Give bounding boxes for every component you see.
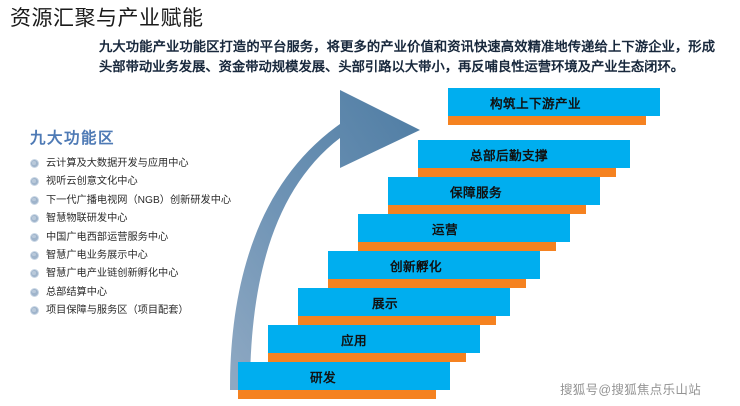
watermark: 搜狐号@搜狐焦点乐山站 [560, 379, 701, 398]
step-riser [418, 168, 616, 177]
stair-step[interactable]: 展示 [298, 288, 510, 330]
step-label: 保障服务 [450, 182, 502, 201]
stair-step[interactable]: 研发 [238, 362, 450, 404]
step-riser [238, 390, 436, 399]
slide-canvas: 资源汇聚与产业赋能 九大功能产业功能区打造的平台服务，将更多的产业价值和资讯快速… [0, 0, 740, 406]
stairs-diagram: 研发 应用 展示 创新孵化 [0, 0, 740, 406]
step-riser [358, 242, 556, 251]
stair-step[interactable]: 保障服务 [388, 177, 600, 219]
step-riser [328, 279, 526, 288]
step-riser [388, 205, 586, 214]
step-riser [298, 316, 496, 325]
stair-step[interactable]: 总部后勤支撑 [418, 140, 630, 182]
step-label: 应用 [341, 330, 367, 349]
step-label: 创新孵化 [390, 256, 442, 275]
stair-step[interactable]: 运营 [358, 214, 570, 256]
step-riser [448, 116, 646, 125]
step-riser [268, 353, 466, 362]
step-label: 运营 [432, 219, 458, 238]
stair-step[interactable]: 创新孵化 [328, 251, 540, 293]
stair-step[interactable]: 构筑上下游产业 [448, 88, 660, 130]
step-label: 构筑上下游产业 [490, 93, 581, 112]
step-label: 研发 [310, 367, 336, 386]
stair-step[interactable]: 应用 [268, 325, 480, 367]
step-label: 总部后勤支撑 [470, 145, 548, 164]
step-label: 展示 [372, 293, 398, 312]
